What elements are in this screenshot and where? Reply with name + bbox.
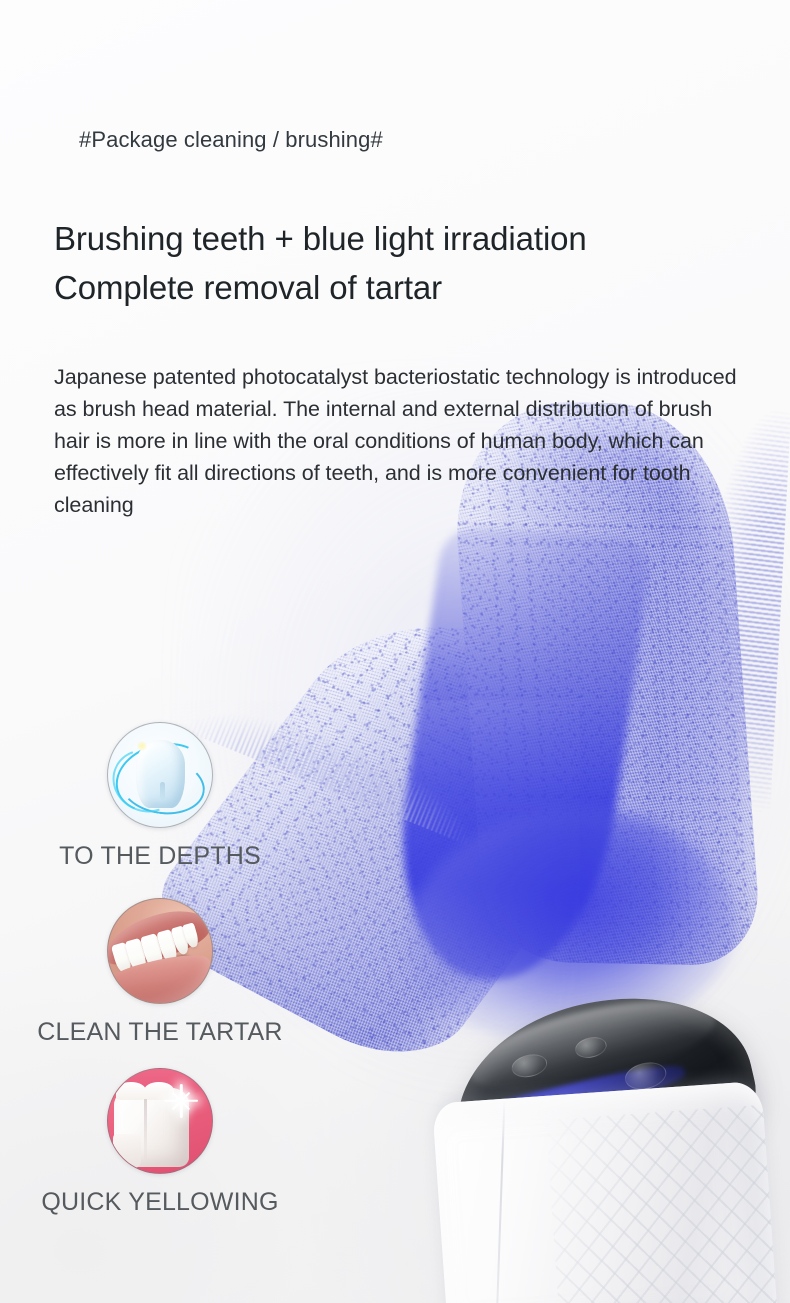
molar-neck [113, 1134, 141, 1169]
tagline: #Package cleaning / brushing# [79, 127, 383, 153]
product-feature-page: #Package cleaning / brushing# Brushing t… [0, 0, 790, 1303]
smiling-mouth-photo-icon [107, 898, 213, 1004]
feature-label: QUICK YELLOWING [0, 1188, 320, 1217]
feature-label: CLEAN THE TARTAR [0, 1018, 320, 1047]
tooth-with-cyan-swoosh-icon [107, 722, 213, 828]
molar-groove [144, 1099, 147, 1159]
sparkle-icon [137, 741, 147, 751]
molar-cusp [116, 1082, 146, 1099]
white-tooth-pink-gums-icon [107, 1068, 213, 1174]
description-paragraph: Japanese patented photocatalyst bacterio… [54, 361, 744, 521]
handle-edge-line [495, 1099, 505, 1303]
feature-item-to-the-depths: TO THE DEPTHS [0, 722, 320, 871]
page-title: Brushing teeth + blue light irradiation … [54, 214, 587, 312]
feature-item-quick-yellowing: QUICK YELLOWING [0, 1068, 320, 1217]
feature-item-clean-the-tartar: CLEAN THE TARTAR [0, 898, 320, 1047]
handle-facet-pattern [546, 1103, 778, 1303]
sparkle-icon [164, 1084, 198, 1118]
feature-label: TO THE DEPTHS [0, 842, 320, 871]
white-handle [432, 1081, 778, 1303]
